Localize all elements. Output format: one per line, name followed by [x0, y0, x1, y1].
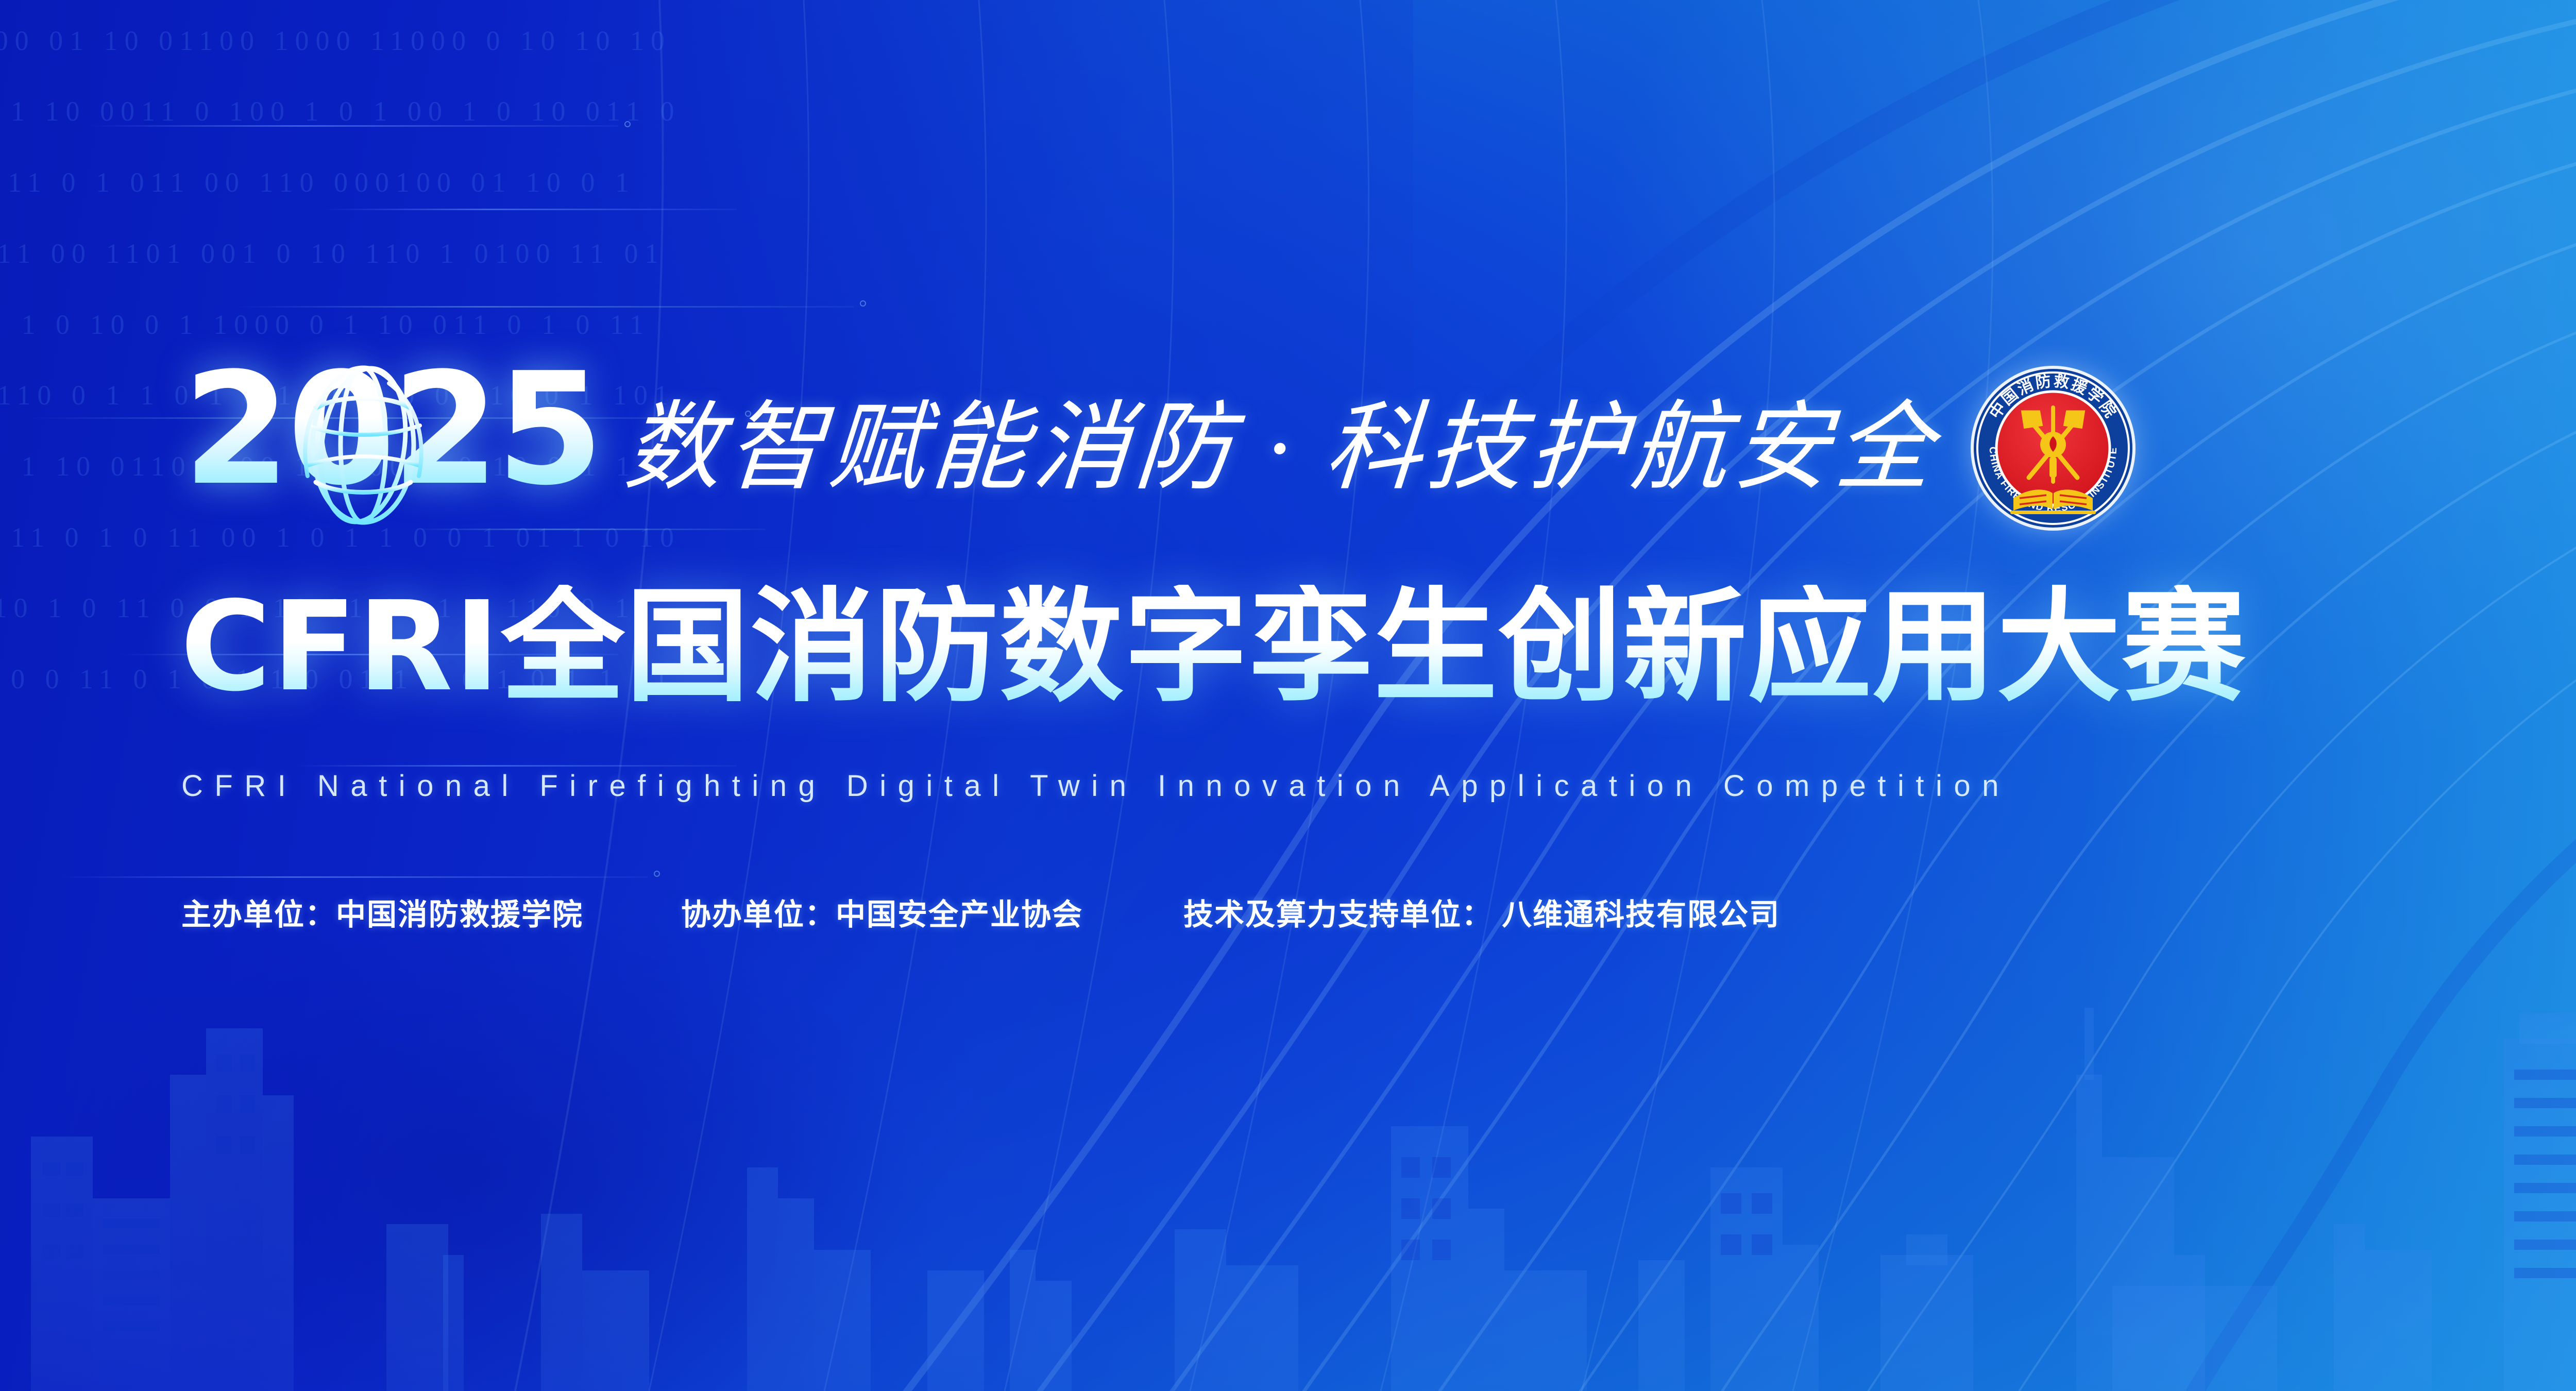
- page-title: CFRI全国消防数字孪生创新应用大赛: [180, 585, 2246, 708]
- organizer-host: 主办单位：中国消防救援学院: [181, 890, 583, 934]
- organizers-row: 主办单位：中国消防救援学院 协办单位：中国安全产业协会 技术及算力支持单位： 八…: [181, 890, 1780, 934]
- title-top-row: 2025: [183, 355, 2138, 541]
- organizer-coorganizer: 协办单位：中国安全产业协会: [681, 890, 1083, 934]
- banner-canvas: 0100 01 10 01100 1000 11000 0 10 10 10 0…: [0, 0, 2576, 1391]
- event-tagline: 数智赋能消防 · 科技护航安全: [621, 400, 1940, 497]
- year-text: 2025: [183, 352, 601, 507]
- banner-content: 2025: [0, 0, 2576, 1391]
- page-subtitle-english: CFRI National Firefighting Digital Twin …: [181, 769, 2010, 803]
- china-fire-and-rescue-institute-emblem: 中国消防救援学院 CHINA FIRE AND RESCUE INSTITUTE: [1968, 363, 2138, 533]
- year-logo: 2025: [183, 355, 636, 541]
- organizer-tech-support: 技术及算力支持单位： 八维通科技有限公司: [1183, 890, 1780, 934]
